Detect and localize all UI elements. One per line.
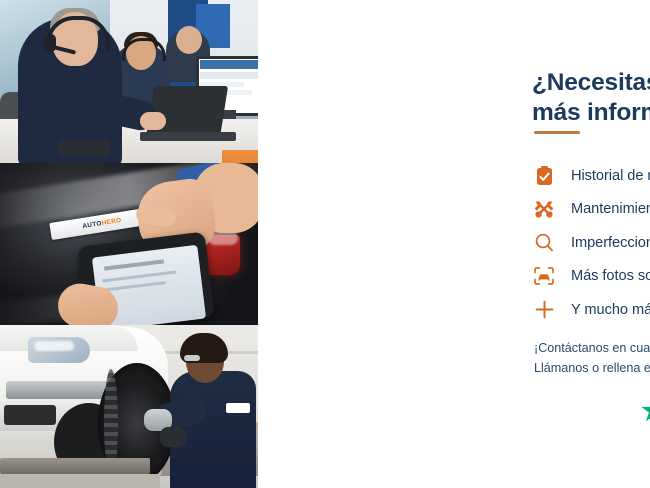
agent-hand	[140, 112, 166, 130]
work-glove	[160, 427, 186, 447]
car-scan-icon	[534, 266, 554, 286]
list-item: Historial de mantenimientos	[534, 159, 650, 193]
trustpilot-widget[interactable]: Trustpilot Excelente	[641, 386, 650, 448]
laptop-base	[140, 132, 236, 141]
page-title-line-1: ¿Necesitas	[532, 69, 650, 96]
magnifier-icon	[534, 233, 554, 253]
trustpilot-star-icon	[641, 398, 650, 423]
info-content: ¿Necesitas más información? Estamos enca…	[258, 0, 650, 488]
list-item: Y mucho más	[534, 293, 650, 327]
cta-line-1: ¡Contáctanos en cualquier momento para m…	[534, 338, 650, 358]
list-item-label: Mantenimiento realizado	[571, 201, 650, 217]
page-title-line-2: más información?	[532, 98, 650, 128]
cta-line-2: Llámanos o rellena el formulario de cont…	[534, 358, 650, 378]
ruler-brand-auto: AUTO	[82, 220, 102, 230]
info-promo-card: AUTOHERO	[0, 0, 650, 488]
list-item-label: Más fotos sobre el coche	[571, 268, 650, 284]
list-item: Imperfecciones	[534, 226, 650, 260]
headlight-glow	[34, 341, 74, 351]
list-item-label: Y mucho más	[571, 302, 650, 318]
photo-column: AUTOHERO	[0, 0, 258, 488]
uniform-logo	[226, 403, 250, 413]
tablet-on-desk	[58, 140, 110, 156]
car-inspection-ruler-photo: AUTOHERO	[0, 163, 258, 325]
car-lift-arm	[0, 458, 150, 474]
plus-icon	[534, 300, 554, 320]
agent-background-head	[176, 26, 202, 54]
orange-stand	[222, 150, 258, 163]
title-divider	[534, 131, 580, 134]
bumper-vent	[4, 405, 56, 425]
trustpilot-logo: Trustpilot	[641, 398, 650, 423]
monitor-row	[200, 72, 258, 79]
list-item-label: Imperfecciones	[571, 235, 650, 251]
ruler-brand-hero: HERO	[101, 217, 122, 227]
call-center-agents-photo	[0, 0, 258, 163]
page-title: ¿Necesitas más información?	[532, 68, 650, 128]
contact-cta-text: ¡Contáctanos en cualquier momento para m…	[534, 338, 650, 379]
garage-floor	[0, 474, 160, 488]
mechanic-wheel-inspection-photo	[0, 325, 258, 488]
clipboard-check-icon	[534, 166, 554, 186]
list-item: Más fotos sobre el coche	[534, 260, 650, 294]
feature-list: Historial de mantenimientos M	[534, 159, 650, 327]
safety-glasses	[184, 355, 200, 361]
tools-cross-icon	[534, 199, 554, 219]
monitor-header-bar	[200, 60, 258, 69]
list-item: Mantenimiento realizado	[534, 193, 650, 227]
list-item-label: Historial de mantenimientos	[571, 168, 650, 184]
